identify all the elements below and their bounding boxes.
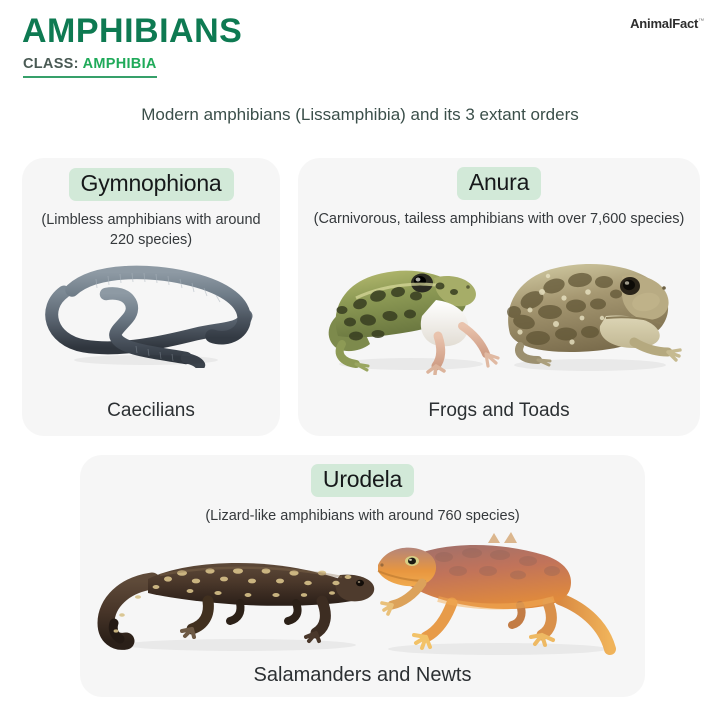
page-header: AMPHIBIANS CLASS: AMPHIBIA AnimalFact™ (0, 0, 720, 96)
common-name: Salamanders and Newts (80, 664, 645, 687)
order-name-container: Anura (298, 167, 700, 200)
common-name: Frogs and Toads (298, 400, 700, 422)
order-name-badge: Gymnophiona (69, 168, 234, 201)
brand-logo-text: AnimalFact (630, 16, 698, 31)
taxonomy-class-line: CLASS: AMPHIBIA (23, 56, 157, 78)
newt-illustration (348, 513, 638, 663)
frog-illustration (316, 240, 511, 375)
order-name-container: Urodela (80, 464, 645, 497)
caecilian-illustration (36, 250, 266, 368)
common-name: Caecilians (22, 400, 280, 422)
order-description: (Carnivorous, tailess amphibians with ov… (298, 210, 700, 230)
order-name-badge: Anura (457, 167, 541, 200)
brand-logo: AnimalFact™ (630, 16, 704, 31)
page-title: AMPHIBIANS (22, 12, 242, 51)
page-subtitle: Modern amphibians (Lissamphibia) and its… (0, 105, 720, 125)
class-label: CLASS: (23, 56, 79, 72)
class-value: AMPHIBIA (83, 56, 157, 72)
order-name-container: Gymnophiona (22, 168, 280, 201)
order-card-anura: Anura (Carnivorous, tailess amphibians w… (298, 158, 700, 436)
order-card-urodela: Urodela (Lizard-like amphibians with aro… (80, 455, 645, 697)
order-name-badge: Urodela (311, 464, 414, 497)
salamander-illustration (90, 523, 380, 658)
order-description: (Limbless amphibians with around 220 spe… (22, 211, 280, 250)
order-card-gymnophiona: Gymnophiona (Limbless amphibians with ar… (22, 158, 280, 436)
toad-illustration (494, 242, 689, 375)
trademark-mark: ™ (698, 19, 704, 25)
